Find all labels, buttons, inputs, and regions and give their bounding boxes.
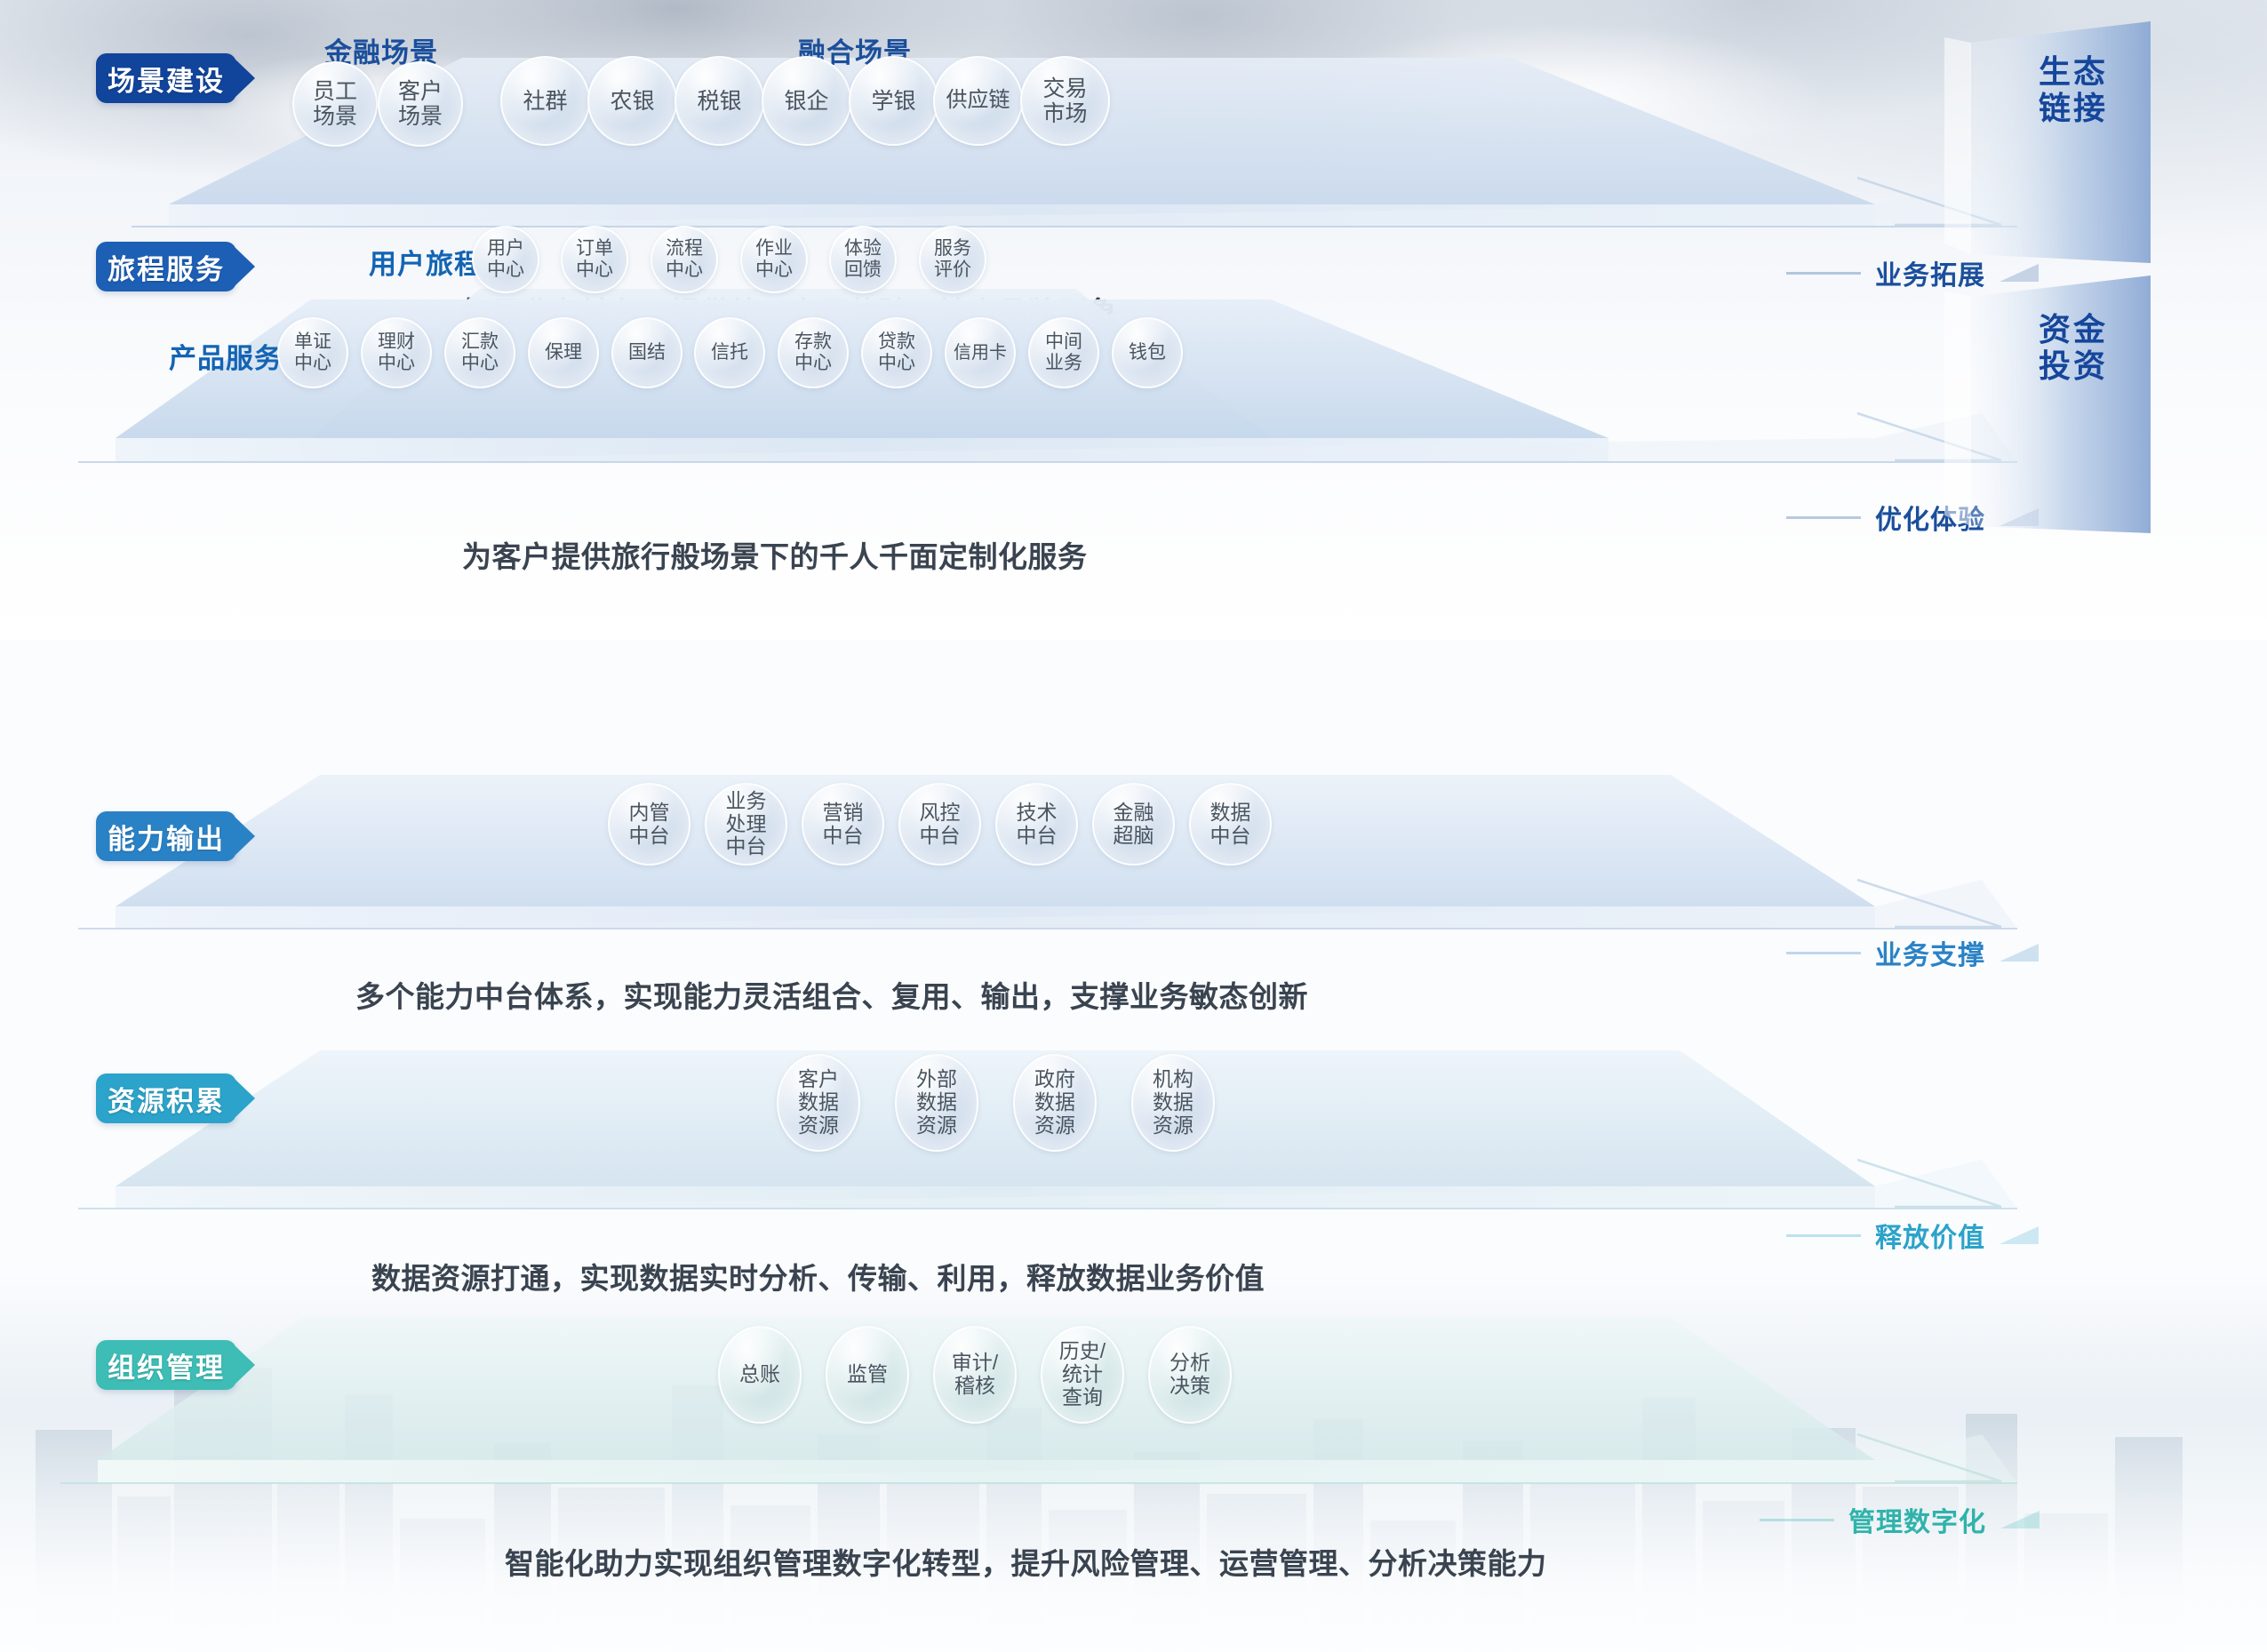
bubble-business-process-midplatform[interactable]: 业务处理中台 xyxy=(705,783,787,866)
bubble-experience-feedback[interactable]: 体验回馈 xyxy=(829,226,897,293)
bubble-trade-market[interactable]: 交易市场 xyxy=(1020,56,1110,146)
bubble-supply-chain[interactable]: 供应链 xyxy=(933,56,1023,146)
tier-tag-org[interactable]: 组织管理 xyxy=(96,1340,236,1390)
bubble-factoring[interactable]: 保理 xyxy=(528,317,599,388)
bubble-external-data-resource[interactable]: 外部数据资源 xyxy=(895,1054,978,1152)
bubble-community[interactable]: 社群 xyxy=(500,56,590,146)
bubble-data-midplatform[interactable]: 数据中台 xyxy=(1189,783,1272,866)
bubble-employee-scene[interactable]: 员工场景 xyxy=(292,61,378,147)
tier-tag-scene[interactable]: 场景建设 xyxy=(96,53,236,103)
bubble-customer-data-resource[interactable]: 客户数据资源 xyxy=(777,1054,860,1152)
bubble-customer-scene[interactable]: 客户场景 xyxy=(378,61,463,147)
tier-caption-business-support: 业务支撑 xyxy=(1786,933,2039,972)
banner-fund-investment-text-wrap: 资金投资 xyxy=(1944,267,2202,578)
tier-tag-journey[interactable]: 旅程服务 xyxy=(96,242,236,291)
bubble-trust[interactable]: 信托 xyxy=(694,317,765,388)
tier-caption-management-digitalization: 管理数字化 xyxy=(1760,1500,2040,1539)
tier-caption-release-value: 释放价值 xyxy=(1786,1216,2039,1255)
bubble-agri-bank[interactable]: 农银 xyxy=(587,56,677,146)
bubble-service-rating[interactable]: 服务评价 xyxy=(919,226,986,293)
bubble-document-center[interactable]: 单证中心 xyxy=(277,317,348,388)
bubble-bank-enterprise[interactable]: 银企 xyxy=(762,56,851,146)
bubble-supervision[interactable]: 监管 xyxy=(826,1326,909,1424)
tier-tag-journey-label: 旅程服务 xyxy=(108,247,225,287)
banner-fund-investment-text: 资金投资 xyxy=(1944,311,2202,384)
group-heading-product-service: 产品服务 xyxy=(169,336,283,376)
tier-caption-business-support-label: 业务支撑 xyxy=(1875,933,1985,972)
tier-tag-scene-label: 场景建设 xyxy=(108,59,225,99)
tier-caption-release-value-label: 释放价值 xyxy=(1875,1216,1985,1255)
bubble-wallet[interactable]: 钱包 xyxy=(1112,317,1183,388)
bubble-marketing-midplatform[interactable]: 营销中台 xyxy=(802,783,884,866)
bubble-deposit-center[interactable]: 存款中心 xyxy=(778,317,849,388)
bubble-general-ledger[interactable]: 总账 xyxy=(718,1326,802,1424)
tier-description-capability: 多个能力中台体系，实现能力灵活组合、复用、输出，支撑业务敏态创新 xyxy=(355,973,1308,1016)
tier-tag-capability[interactable]: 能力输出 xyxy=(96,811,236,861)
bubble-riskcontrol-midplatform[interactable]: 风控中台 xyxy=(898,783,981,866)
bubble-loan-center[interactable]: 贷款中心 xyxy=(861,317,932,388)
bubble-process-center[interactable]: 流程中心 xyxy=(651,226,718,293)
bubble-financial-brain[interactable]: 金融超脑 xyxy=(1092,783,1175,866)
diagram-canvas: 场景建设 金融场景 融合场景 员工场景 客户场景 社群 农银 税银 银企 学银 … xyxy=(0,0,2267,1652)
group-heading-user-journey: 用户旅程 xyxy=(369,242,483,282)
bubble-tax-bank[interactable]: 税银 xyxy=(675,56,764,146)
tier-tag-capability-label: 能力输出 xyxy=(108,817,225,857)
bubble-tech-midplatform[interactable]: 技术中台 xyxy=(995,783,1078,866)
bubble-analysis-decision[interactable]: 分析决策 xyxy=(1148,1326,1232,1424)
tier-tag-resource-label: 资源积累 xyxy=(108,1079,225,1119)
tier-description-resource: 数据资源打通，实现数据实时分析、传输、利用，释放数据业务价值 xyxy=(371,1255,1265,1297)
tier-tag-resource[interactable]: 资源积累 xyxy=(96,1073,236,1123)
bubble-credit-card[interactable]: 信用卡 xyxy=(945,317,1016,388)
tier-tag-org-label: 组织管理 xyxy=(108,1345,225,1385)
bubble-remittance-center[interactable]: 汇款中心 xyxy=(444,317,515,388)
tier-description-org: 智能化助力实现组织管理数字化转型，提升风险管理、运营管理、分析决策能力 xyxy=(505,1540,1547,1583)
bubble-school-bank[interactable]: 学银 xyxy=(849,56,938,146)
bubble-audit-inspection[interactable]: 审计/稽核 xyxy=(933,1326,1017,1424)
tier-caption-management-digitalization-label: 管理数字化 xyxy=(1848,1500,1986,1539)
bubble-intermediary-business[interactable]: 中间业务 xyxy=(1028,317,1099,388)
bubble-operation-center[interactable]: 作业中心 xyxy=(740,226,808,293)
banner-ecosystem-link-text: 生态链接 xyxy=(1944,53,2202,126)
bubble-government-data-resource[interactable]: 政府数据资源 xyxy=(1013,1054,1097,1152)
bubble-history-statistics-query[interactable]: 历史/统计查询 xyxy=(1041,1326,1124,1424)
bubble-internal-mgmt-midplatform[interactable]: 内管中台 xyxy=(608,783,690,866)
bubble-user-center[interactable]: 用户中心 xyxy=(472,226,539,293)
bubble-wealth-center[interactable]: 理财中心 xyxy=(361,317,432,388)
bubble-intl-settlement[interactable]: 国结 xyxy=(611,317,682,388)
tier-description-journey: 为客户提供旅行般场景下的千人千面定制化服务 xyxy=(462,533,1088,576)
bubble-order-center[interactable]: 订单中心 xyxy=(561,226,628,293)
bubble-institution-data-resource[interactable]: 机构数据资源 xyxy=(1131,1054,1215,1152)
